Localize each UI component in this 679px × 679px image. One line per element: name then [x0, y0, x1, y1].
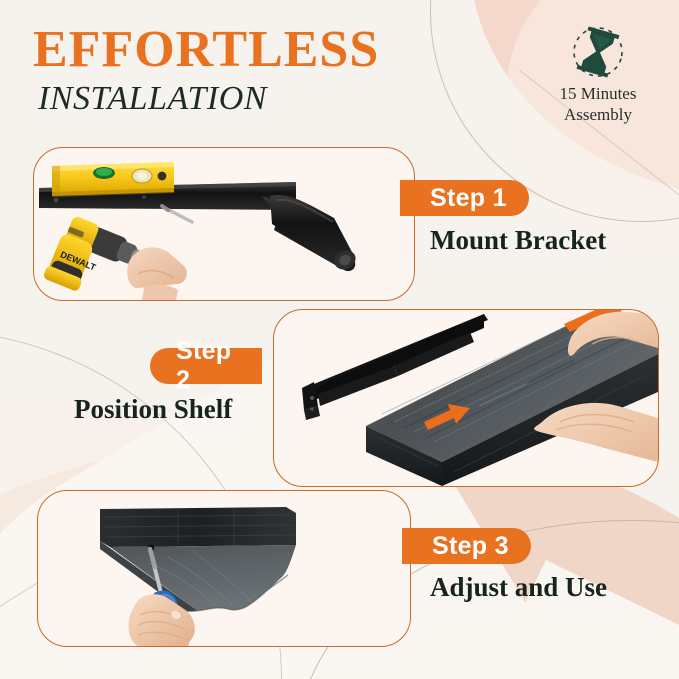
step-2-pill-label: Step 2	[176, 337, 246, 395]
step-1-pill: Step 1	[400, 180, 529, 216]
step-3-pill-label: Step 3	[432, 532, 509, 561]
step-2-pill: Step 2	[150, 348, 262, 384]
step-3-caption: Adjust and Use	[430, 572, 607, 603]
step-2-caption: Position Shelf	[74, 394, 232, 425]
page-subtitle: INSTALLATION	[38, 80, 267, 118]
hourglass-icon	[528, 24, 668, 82]
assembly-time-badge: 15 Minutes Assembly	[528, 24, 668, 125]
badge-line-1: 15 Minutes	[528, 84, 668, 105]
infographic-canvas: EFFORTLESS INSTALLATION 15 Minutes Assem…	[0, 0, 679, 679]
step-3-pill: Step 3	[402, 528, 531, 564]
badge-line-2: Assembly	[528, 105, 668, 126]
step-3-illustration	[38, 491, 410, 646]
step-3-image-panel	[37, 490, 411, 647]
step-1-illustration: DEWALT	[34, 148, 414, 300]
step-2-illustration	[274, 310, 658, 486]
page-title: EFFORTLESS	[33, 24, 379, 76]
step-1-caption: Mount Bracket	[430, 225, 606, 256]
step-1-pill-label: Step 1	[430, 184, 507, 213]
step-2-image-panel	[273, 309, 659, 487]
step-1-image-panel: DEWALT	[33, 147, 415, 301]
